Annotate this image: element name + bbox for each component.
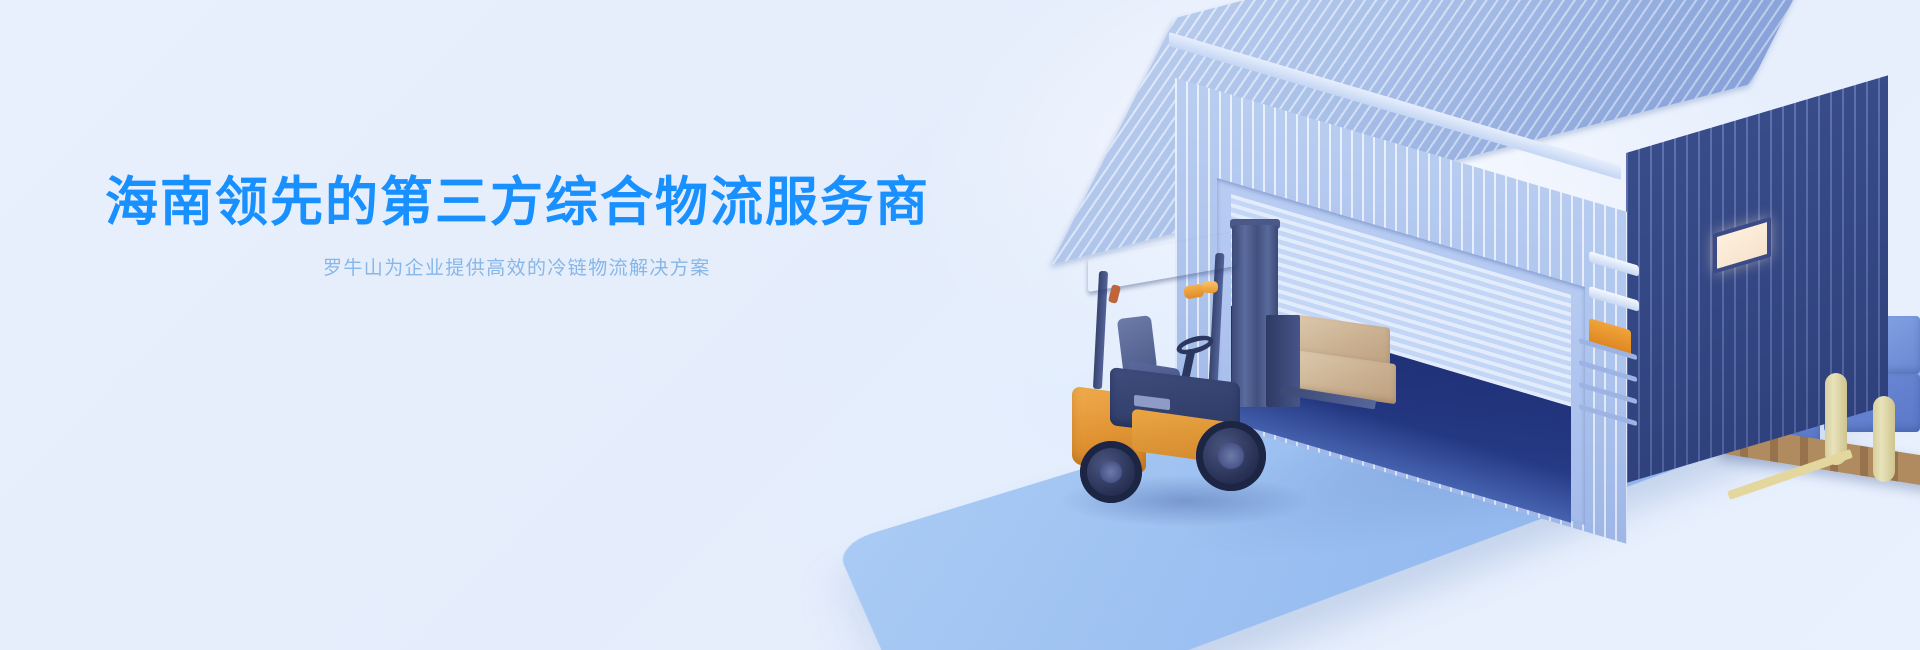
guard-post [1209,253,1225,385]
warehouse-side-wall [1626,75,1888,483]
warehouse-illustration [890,0,1920,650]
hero-banner: 海南领先的第三方综合物流服务商 罗牛山为企业提供高效的冷链物流解决方案 [0,0,1920,650]
wall-ladder [1579,338,1637,447]
warning-lamp [1202,281,1218,293]
rear-hub [1100,461,1122,483]
hero-copy: 海南领先的第三方综合物流服务商 罗牛山为企业提供高效的冷链物流解决方案 [105,172,985,280]
forklift [1080,225,1410,505]
hero-subheadline: 罗牛山为企业提供高效的冷链物流解决方案 [323,253,985,280]
hero-headline: 海南领先的第三方综合物流服务商 [105,172,985,235]
safety-bollard [1873,396,1895,482]
front-hub [1218,443,1244,469]
